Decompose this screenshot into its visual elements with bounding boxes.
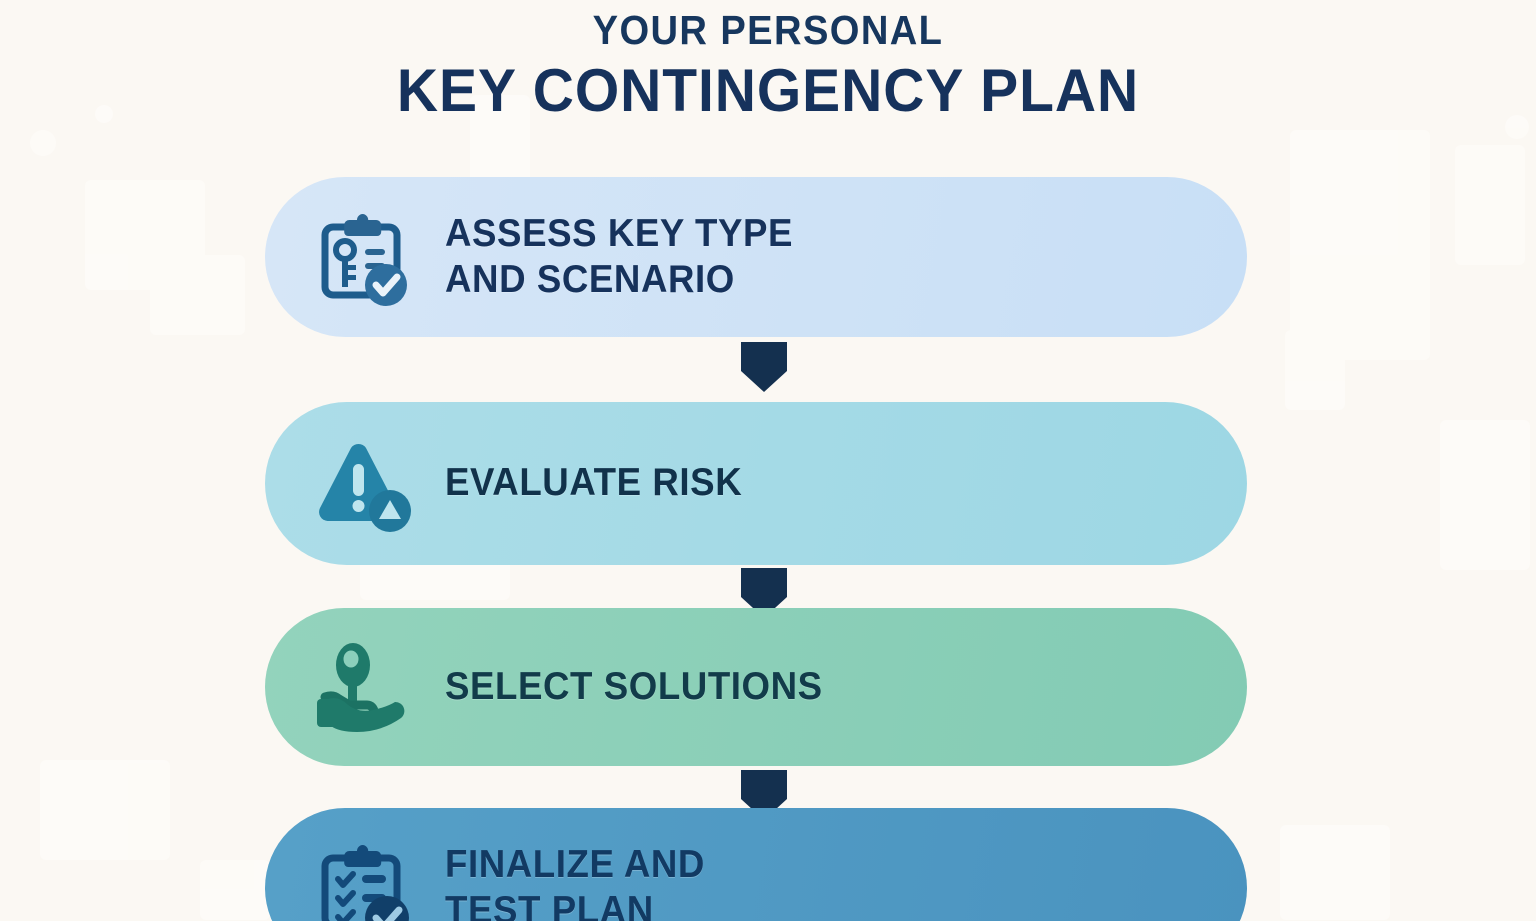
title-main: KEY CONTINGENCY PLAN (38, 56, 1497, 127)
infographic-canvas: YOUR PERSONAL KEY CONTINGENCY PLAN (0, 0, 1536, 921)
flow-step-assess-key-type[interactable]: ASSESS KEY TYPE AND SCENARIO (265, 177, 1247, 337)
hand-holding-key-icon (303, 629, 419, 745)
title-kicker: YOUR PERSONAL (54, 8, 1482, 54)
flow-step-evaluate-risk[interactable]: EVALUATE RISK (265, 402, 1247, 565)
warning-triangle-icon (303, 426, 419, 542)
flow-step-label-line2: TEST PLAN (445, 888, 705, 921)
flow-step-label: SELECT SOLUTIONS (445, 664, 823, 710)
page-title: YOUR PERSONAL KEY CONTINGENCY PLAN (0, 8, 1536, 127)
flow-connector-arrow (741, 342, 787, 392)
clipboard-key-check-icon (303, 199, 419, 315)
flow-step-label-line1: SELECT SOLUTIONS (445, 664, 823, 710)
clipboard-checklist-check-icon (303, 830, 419, 921)
flow-step-label: FINALIZE AND TEST PLAN (445, 842, 705, 921)
flow-step-label: ASSESS KEY TYPE AND SCENARIO (445, 211, 793, 303)
flow-step-label-line1: EVALUATE RISK (445, 460, 742, 506)
flow-step-label-line1: FINALIZE AND (445, 842, 705, 888)
flow-step-label-line1: ASSESS KEY TYPE (445, 211, 793, 257)
flow-step-select-solutions[interactable]: SELECT SOLUTIONS (265, 608, 1247, 766)
flow-step-label-line2: AND SCENARIO (445, 257, 793, 303)
flow-step-finalize-and-test-plan[interactable]: FINALIZE AND TEST PLAN (265, 808, 1247, 921)
flow-step-label: EVALUATE RISK (445, 460, 742, 506)
